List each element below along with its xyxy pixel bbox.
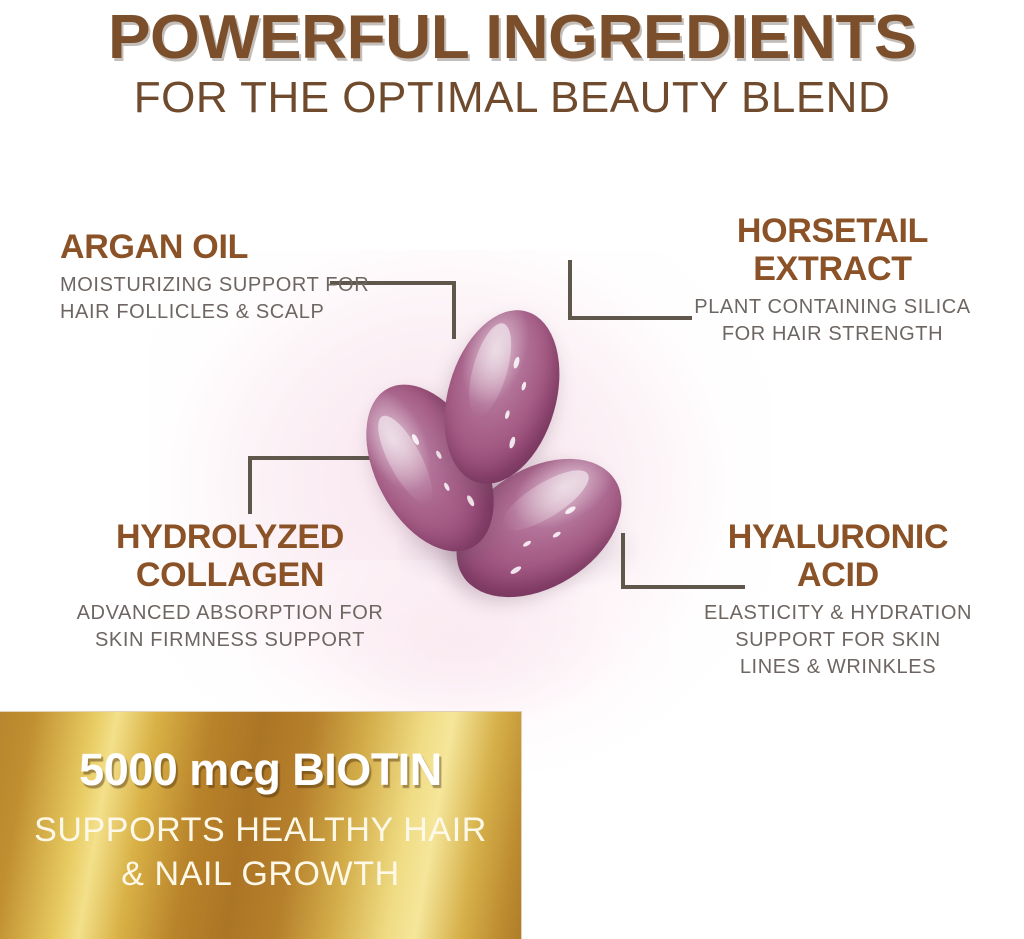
header: POWERFUL INGREDIENTS FOR THE OPTIMAL BEA… (0, 0, 1024, 122)
capsule-highlight (504, 410, 510, 420)
ingredient-name-horsetail-extract: HORSETAIL EXTRACT (660, 212, 1005, 288)
ingredient-argan-oil: ARGAN OIL MOISTURIZING SUPPORT FOR HAIR … (60, 228, 420, 326)
capsule-highlight (552, 531, 562, 539)
capsule-highlight (466, 494, 476, 507)
capsule-highlight (521, 381, 527, 391)
desc-line: PLANT CONTAINING SILICA (694, 296, 970, 318)
biotin-subtext: SUPPORTS HEALTHY HAIR & NAIL GROWTH (14, 808, 507, 896)
page-title: POWERFUL INGREDIENTS (0, 6, 1024, 70)
ingredient-horsetail-extract: HORSETAIL EXTRACT PLANT CONTAINING SILIC… (660, 212, 1005, 348)
ingredient-hydrolyzed-collagen: HYDROLYZED COLLAGEN ADVANCED ABSORPTION … (40, 518, 420, 654)
name-line: HYDROLYZED (116, 518, 344, 556)
capsule-highlight (443, 482, 451, 492)
capsule-highlight (435, 450, 443, 460)
name-line: HYALURONIC (728, 518, 949, 556)
ingredient-description-horsetail-extract: PLANT CONTAINING SILICA FOR HAIR STRENGT… (660, 294, 1005, 348)
ingredient-description-hydrolyzed-collagen: ADVANCED ABSORPTION FOR SKIN FIRMNESS SU… (40, 600, 420, 654)
desc-line: FOR HAIR STRENGTH (722, 323, 943, 345)
name-line: HORSETAIL (737, 212, 928, 250)
desc-line: SKIN FIRMNESS SUPPORT (95, 629, 365, 651)
desc-line: ADVANCED ABSORPTION FOR (77, 602, 384, 624)
infographic-canvas: POWERFUL INGREDIENTS FOR THE OPTIMAL BEA… (0, 0, 1024, 939)
ingredient-description-hyaluronic-acid: ELASTICITY & HYDRATION SUPPORT FOR SKIN … (668, 600, 1008, 681)
capsule-highlight (508, 436, 516, 449)
biotin-subtext-line: & NAIL GROWTH (121, 855, 400, 893)
capsule-highlight (512, 356, 520, 369)
desc-line: ELASTICITY & HYDRATION (704, 602, 972, 624)
connector-line-hydrolyzed-collagen (248, 456, 380, 514)
capsule-highlight (509, 565, 522, 576)
biotin-banner-content: 5000 mcg BIOTIN SUPPORTS HEALTHY HAIR & … (0, 712, 521, 896)
ingredient-name-hydrolyzed-collagen: HYDROLYZED COLLAGEN (40, 518, 420, 594)
name-line: COLLAGEN (136, 556, 324, 594)
name-line: ACID (797, 556, 879, 594)
ingredient-hyaluronic-acid: HYALURONIC ACID ELASTICITY & HYDRATION S… (668, 518, 1008, 681)
biotin-headline: 5000 mcg BIOTIN (14, 746, 507, 794)
desc-line: SUPPORT FOR SKIN (735, 629, 941, 651)
ingredient-description-argan-oil: MOISTURIZING SUPPORT FOR HAIR FOLLICLES … (60, 272, 420, 326)
biotin-subtext-line: SUPPORTS HEALTHY HAIR (34, 811, 487, 849)
ingredient-name-argan-oil: ARGAN OIL (60, 228, 420, 266)
desc-line: LINES & WRINKLES (740, 656, 936, 678)
capsule-gloss-band (461, 319, 520, 421)
capsule-highlight (522, 540, 532, 548)
ingredient-name-hyaluronic-acid: HYALURONIC ACID (668, 518, 1008, 594)
desc-line: MOISTURIZING SUPPORT FOR (60, 274, 369, 296)
page-subtitle: FOR THE OPTIMAL BEAUTY BLEND (0, 74, 1024, 122)
biotin-banner: 5000 mcg BIOTIN SUPPORTS HEALTHY HAIR & … (0, 712, 521, 939)
desc-line: HAIR FOLLICLES & SCALP (60, 301, 324, 323)
name-line: EXTRACT (753, 250, 911, 288)
